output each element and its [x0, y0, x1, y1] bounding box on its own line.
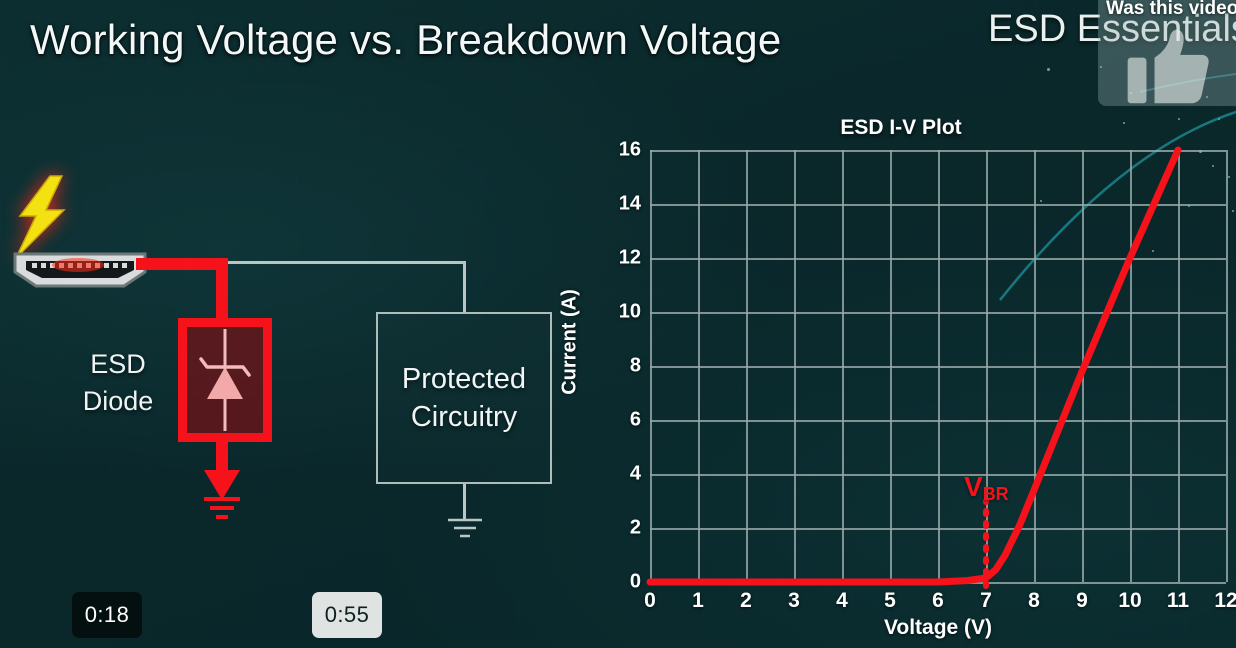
- y-tick-label: 12: [619, 247, 641, 270]
- zener-diode-icon: [187, 327, 263, 433]
- vbr-subscript: BR: [983, 484, 1009, 504]
- background-particle: [1047, 68, 1050, 71]
- protected-circuitry-label: Protected Circuitry: [402, 360, 526, 437]
- wire-surge-path-horizontal: [136, 258, 228, 270]
- y-tick-label: 2: [630, 517, 641, 540]
- x-tick-label: 6: [932, 589, 944, 613]
- timestamp-badge-start[interactable]: 0:18: [72, 592, 142, 638]
- y-tick-label: 0: [630, 571, 641, 594]
- wire-signal-vertical: [463, 261, 466, 312]
- x-tick-label: 7: [980, 589, 992, 613]
- x-tick-label: 9: [1076, 589, 1088, 613]
- chart-y-axis-label: Current (A): [559, 289, 582, 395]
- y-tick-label: 14: [619, 193, 641, 216]
- wire-signal-horizontal: [228, 261, 466, 264]
- iv-curve: [650, 150, 1178, 582]
- x-tick-label: 2: [740, 589, 752, 613]
- chart-x-axis-label: Voltage (V): [650, 616, 1226, 640]
- vbr-annotation-label: VBR: [964, 471, 1009, 505]
- ground-icon-protected: [442, 518, 488, 542]
- slide-canvas: Working Voltage vs. Breakdown Voltage ES…: [0, 0, 1236, 648]
- y-tick-label: 16: [619, 139, 641, 162]
- hdmi-connector-icon: [12, 250, 148, 290]
- vbr-main: V: [964, 471, 983, 502]
- esd-diode-component[interactable]: [178, 318, 272, 442]
- chart-title: ESD I-V Plot: [576, 116, 1226, 140]
- y-tick-label: 4: [630, 463, 641, 486]
- x-tick-label: 0: [644, 589, 656, 613]
- ground-icon: [196, 496, 248, 522]
- thumbs-up-icon[interactable]: [1122, 28, 1214, 106]
- x-tick-label: 11: [1167, 589, 1189, 613]
- x-tick-label: 12: [1214, 589, 1236, 613]
- wire-protected-to-ground: [463, 484, 466, 520]
- chart-plot-area: 01234567891011120246810121416 VBR: [650, 150, 1226, 582]
- x-tick-label: 8: [1028, 589, 1040, 613]
- x-tick-label: 1: [692, 589, 704, 613]
- feedback-prompt: Was this video: [1106, 0, 1236, 20]
- y-tick-label: 8: [630, 355, 641, 378]
- video-feedback-overlay[interactable]: Was this video: [1098, 0, 1236, 106]
- x-tick-label: 4: [836, 589, 848, 613]
- lightning-bolt-icon: [8, 174, 82, 262]
- circuit-diagram: ESD Diode Protected Circuitry: [0, 170, 580, 550]
- esd-diode-label: ESD Diode: [68, 346, 168, 421]
- x-tick-label: 10: [1118, 589, 1141, 613]
- chart-series-layer: [650, 150, 1226, 582]
- gridline-vertical: [1226, 150, 1228, 582]
- x-tick-label: 3: [788, 589, 800, 613]
- page-title: Working Voltage vs. Breakdown Voltage: [30, 16, 781, 64]
- esd-iv-chart: ESD I-V Plot Current (A) Voltage (V) 012…: [576, 104, 1236, 648]
- x-tick-label: 5: [884, 589, 896, 613]
- wire-surge-path-vertical: [216, 258, 228, 324]
- protected-circuitry-component[interactable]: Protected Circuitry: [376, 312, 552, 484]
- timestamp-badge-end[interactable]: 0:55: [312, 592, 382, 638]
- y-tick-label: 10: [619, 301, 641, 324]
- y-tick-label: 6: [630, 409, 641, 432]
